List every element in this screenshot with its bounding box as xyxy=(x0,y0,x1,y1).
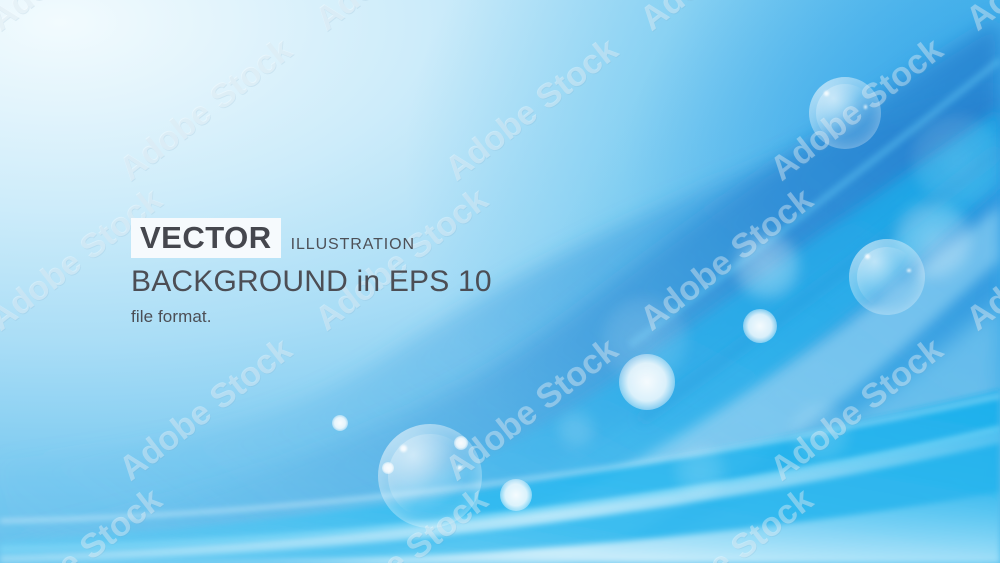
vector-background-image: Adobe StockAdobe StockAdobe StockAdobe S… xyxy=(0,0,1000,563)
bubble-bottom-left-highlight xyxy=(400,445,407,452)
vector-badge-label: VECTOR xyxy=(140,220,272,255)
bubble-mid-right xyxy=(849,239,925,315)
bubble-mid-right-highlight-2 xyxy=(907,269,911,273)
bubble-bottom-left-highlight-2 xyxy=(457,465,462,470)
bubble-top-right-highlight xyxy=(824,91,829,96)
headline-line-background-eps: BACKGROUND in EPS 10 xyxy=(131,267,492,297)
vector-illustration-row: VECTOR ILLUSTRATION xyxy=(131,218,492,258)
bubble-top-right-highlight-2 xyxy=(864,105,868,109)
bubble-top-right xyxy=(809,77,881,149)
illustration-label: ILLUSTRATION xyxy=(291,236,415,254)
vector-badge: VECTOR xyxy=(131,218,281,258)
bubble-bottom-left xyxy=(378,424,482,528)
headline-line-file-format: file format. xyxy=(131,308,492,325)
headline-text-block: VECTOR ILLUSTRATION BACKGROUND in EPS 10… xyxy=(131,218,492,325)
bubble-mid-right-highlight xyxy=(865,254,870,259)
